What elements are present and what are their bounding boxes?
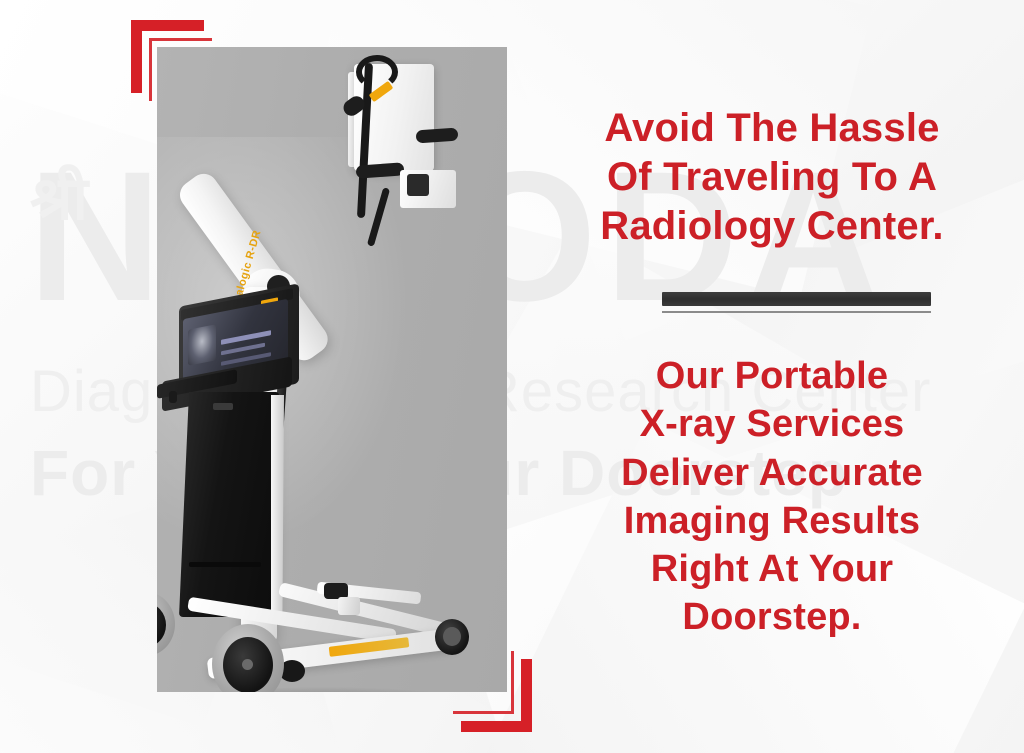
divider-thin-line [662,311,931,313]
product-photo-panel: Analogic R-DR [157,47,507,692]
section-divider [662,292,931,313]
collimator-aperture [407,174,429,196]
tube-handle-right [416,128,459,144]
tower-control-button [213,403,233,410]
right-caster-hub [443,627,461,646]
headline-line-2: Of Traveling To A [556,153,988,202]
subcopy-line-5: Right At Your [556,545,988,593]
subcopy-line-4: Imaging Results [556,497,988,545]
subcopy-line-2: X-ray Services [556,400,988,448]
page-subcopy: Our Portable X-ray Services Deliver Accu… [556,352,988,642]
headline-line-3: Radiology Center. [556,202,988,251]
page-headline: Avoid The Hassle Of Traveling To A Radio… [556,104,988,250]
xray-cable-loop [356,55,398,89]
subcopy-line-6: Doorstep. [556,593,988,641]
tower-vent-slot [189,562,261,567]
subcopy-line-1: Our Portable [556,352,988,400]
machine-floor-shadow [167,687,467,692]
promotional-poster: NAKODA श्री Diagnostics And Research Cen… [0,0,1024,753]
base-bracket-rear [338,597,360,615]
tube-handle-left [356,162,405,178]
subcopy-line-3: Deliver Accurate [556,449,988,497]
generator-tower-body [179,392,279,617]
generator-tower-white-edge [271,395,284,615]
portable-xray-machine-illustration: Analogic R-DR [157,47,507,692]
front-wheel-axle-cap [242,659,253,670]
keyboard-tray-knob [169,391,177,403]
divider-thick-bar [662,292,931,306]
console-xray-preview-thumbnail [188,324,216,365]
xray-tube-cable-lower [367,187,390,247]
headline-line-1: Avoid The Hassle [556,104,988,153]
